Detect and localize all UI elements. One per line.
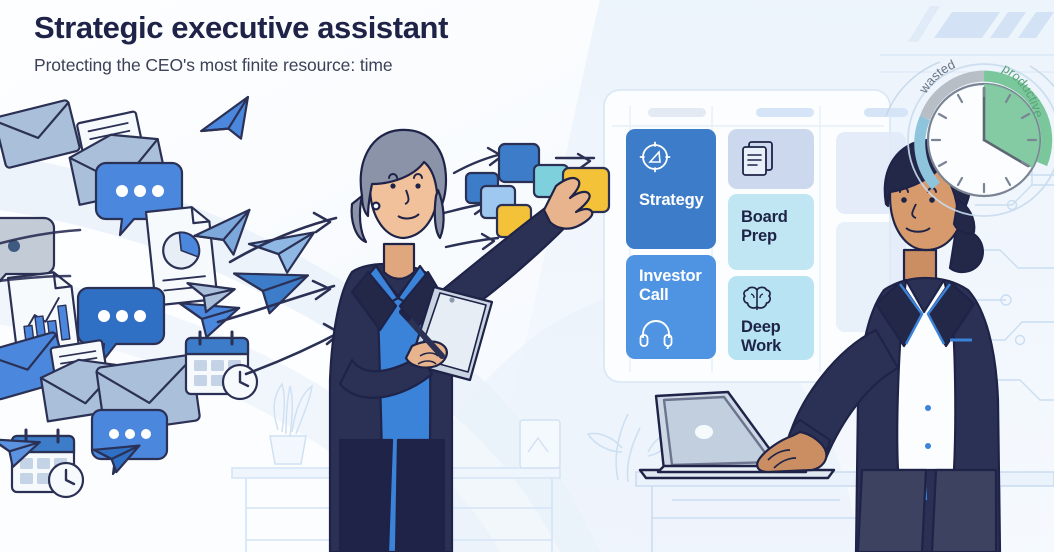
illustration-canvas: Strategic executive assistant Protecting… [0,0,1054,552]
page-title: Strategic executive assistant [34,10,448,46]
page-subtitle: Protecting the CEO's most finite resourc… [34,55,448,76]
header-block: Strategic executive assistant Protecting… [34,10,448,76]
productivity-gauge: wasted productive [0,0,1054,552]
